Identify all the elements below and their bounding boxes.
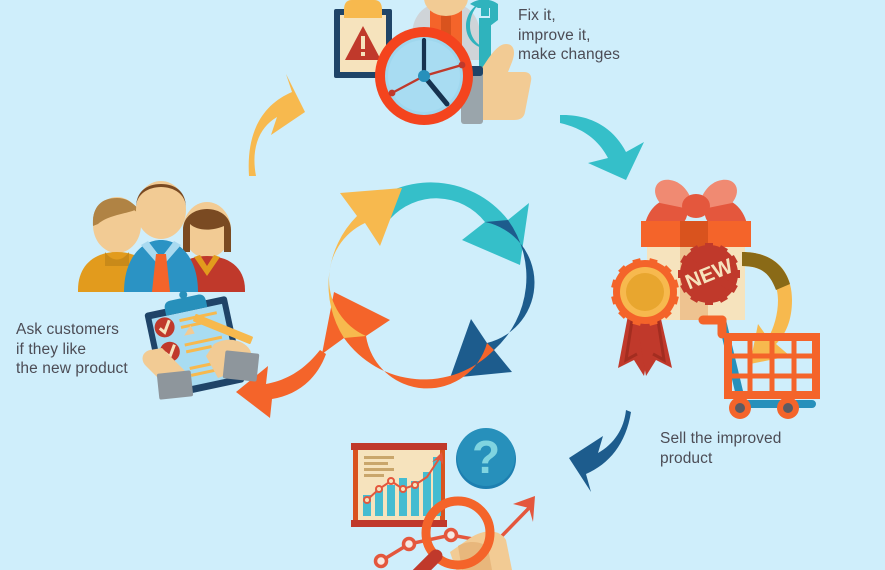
central-cycle-diagram bbox=[322, 182, 534, 388]
cluster-analyze-results: ? bbox=[351, 428, 535, 570]
people-group-icon bbox=[78, 181, 245, 292]
infographic-artwork: NEW bbox=[0, 0, 885, 570]
survey-clipboard-icon bbox=[141, 282, 259, 400]
connector-arrow-to-analyze bbox=[569, 410, 631, 492]
caption-ask-customers: Ask customers if they like the new produ… bbox=[16, 320, 128, 379]
question-badge-icon: ? bbox=[456, 428, 516, 489]
shopping-cart-icon bbox=[703, 320, 816, 419]
cluster-fix-and-improve bbox=[334, 0, 531, 125]
question-badge-label: ? bbox=[472, 431, 500, 483]
caption-sell-improved-product: Sell the improved product bbox=[660, 429, 781, 468]
connector-arrow-to-fix bbox=[249, 74, 305, 176]
cluster-sell-improved-product: NEW bbox=[611, 180, 816, 419]
caption-fix-it: Fix it, improve it, make changes bbox=[518, 6, 620, 65]
connector-arrow-to-sell bbox=[560, 115, 644, 180]
clock-icon bbox=[375, 27, 473, 125]
infographic-canvas: NEW bbox=[0, 0, 885, 570]
